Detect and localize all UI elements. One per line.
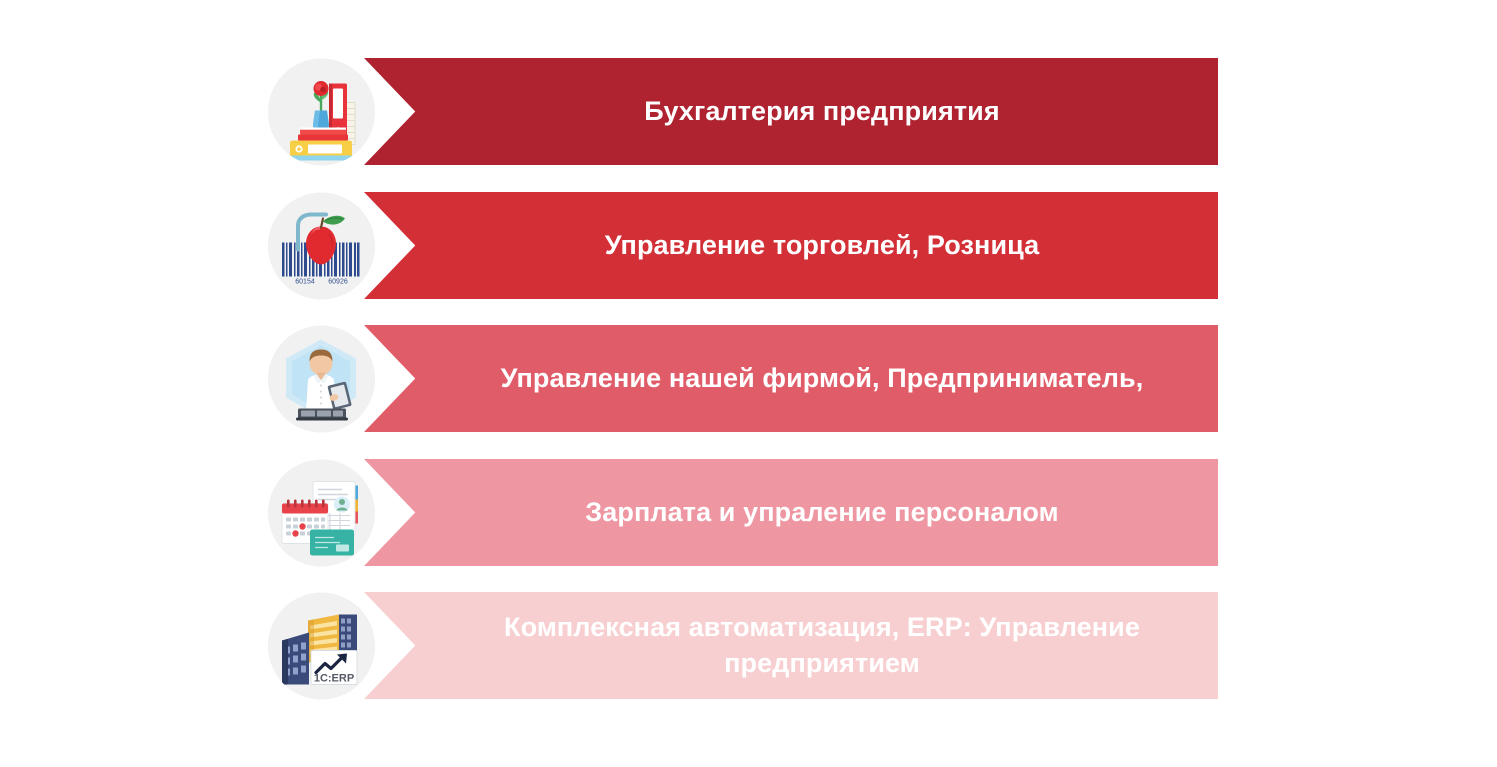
list-item[interactable]: Зарплата и упраление персоналом — [268, 459, 1218, 566]
row-bar[interactable]: Комплексная автоматизация, ERP: Управлен… — [364, 592, 1218, 699]
list-item[interactable]: Бухгалтерия предприятия — [268, 58, 1218, 165]
infographic-root: Бухгалтерия предприятия — [0, 0, 1497, 767]
svg-text:60154: 60154 — [295, 278, 315, 285]
businessman-clipboard-icon — [268, 325, 375, 432]
buildings-erp-chart-icon: 1C:ERP — [268, 592, 375, 699]
svg-text:60926: 60926 — [328, 278, 348, 285]
row-bar[interactable]: Зарплата и упраление персоналом — [364, 459, 1218, 566]
row-bar[interactable]: Бухгалтерия предприятия — [364, 58, 1218, 165]
row-label: Управление нашей фирмой, Предприниматель… — [501, 361, 1144, 397]
row-label: Бухгалтерия предприятия — [644, 94, 999, 130]
row-label: Управление торговлей, Розница — [605, 228, 1040, 264]
calendar-documents-card-icon — [268, 459, 375, 566]
list-item[interactable]: Управление нашей фирмой, Предприниматель… — [268, 325, 1218, 432]
row-bar[interactable]: Управление нашей фирмой, Предприниматель… — [364, 325, 1218, 432]
row-label: Комплексная автоматизация, ERP: Управлен… — [504, 610, 1140, 681]
books-vase-flower-icon — [268, 58, 375, 165]
row-label: Зарплата и упраление персоналом — [585, 495, 1058, 531]
list-item[interactable]: Комплексная автоматизация, ERP: Управлен… — [268, 592, 1218, 699]
apple-barcode-basket-icon: 60154 60926 — [268, 192, 375, 299]
list-item[interactable]: Управление торговлей, Розница — [268, 192, 1218, 299]
svg-text:1C:ERP: 1C:ERP — [314, 672, 354, 684]
row-bar[interactable]: Управление торговлей, Розница — [364, 192, 1218, 299]
